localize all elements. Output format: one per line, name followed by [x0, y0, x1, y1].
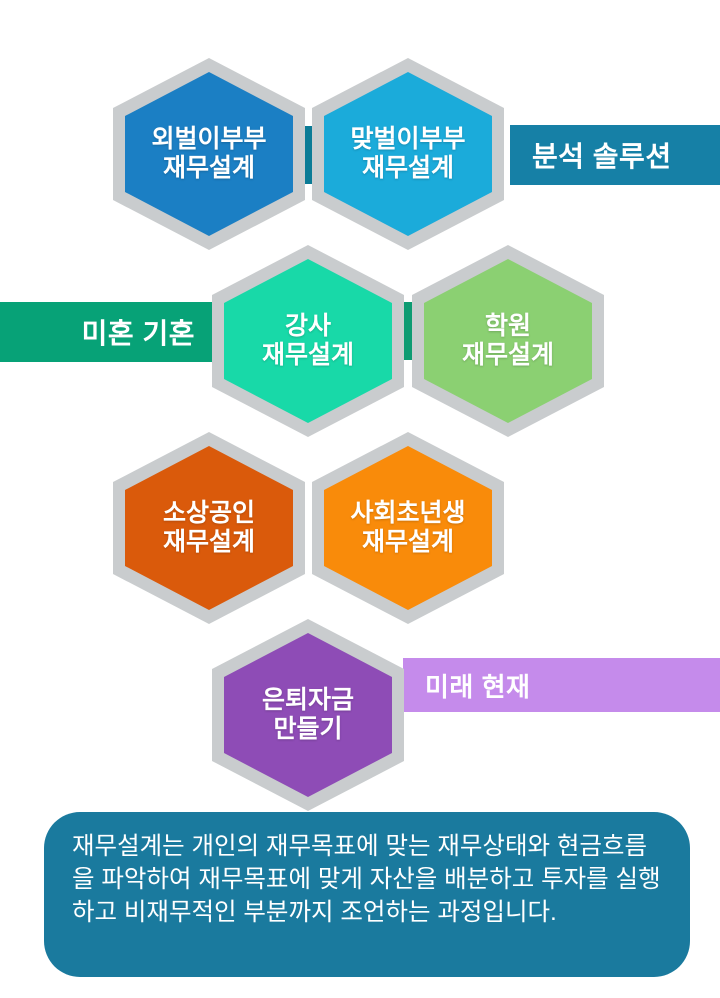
banner-analysis-label: 분석 솔루션 — [532, 135, 672, 175]
hexagon-shape-icon — [312, 58, 504, 250]
hexagon-shape-icon — [312, 432, 504, 624]
banner-time-label: 미래 현재 — [425, 667, 530, 704]
banner-analysis-solution: 분석 솔루션 — [510, 125, 720, 185]
hexagon-shape-icon — [113, 432, 305, 624]
banner-time-horizon: 미래 현재 — [403, 658, 720, 712]
hex-academy[interactable]: 학원 재무설계 — [412, 245, 604, 437]
hexagon-shape-icon — [412, 245, 604, 437]
hex-young-professional[interactable]: 사회초년생 재무설계 — [312, 432, 504, 624]
description-text: 재무설계는 개인의 재무목표에 맞는 재무상태와 현금흐름을 파악하여 재무목표… — [72, 833, 661, 926]
hex-single-income-couple[interactable]: 외벌이부부 재무설계 — [113, 58, 305, 250]
hex-instructor[interactable]: 강사 재무설계 — [212, 245, 404, 437]
banner-marital-label: 미혼 기혼 — [82, 312, 195, 352]
hex-dual-income-couple[interactable]: 맞벌이부부 재무설계 — [312, 58, 504, 250]
banner-marital-status: 미혼 기혼 — [0, 302, 213, 362]
description-box: 재무설계는 개인의 재무목표에 맞는 재무상태와 현금흐름을 파악하여 재무목표… — [44, 812, 690, 977]
hexagon-shape-icon — [113, 58, 305, 250]
hex-small-business-owner[interactable]: 소상공인 재무설계 — [113, 432, 305, 624]
hexagon-shape-icon — [212, 245, 404, 437]
infographic-canvas: 분석 솔루션 미혼 기혼 미래 현재 외벌이부부 재무설계 맞벌이부부 재무설계 — [0, 0, 720, 998]
hexagon-shape-icon — [212, 619, 404, 811]
hex-retirement-fund[interactable]: 은퇴자금 만들기 — [212, 619, 404, 811]
